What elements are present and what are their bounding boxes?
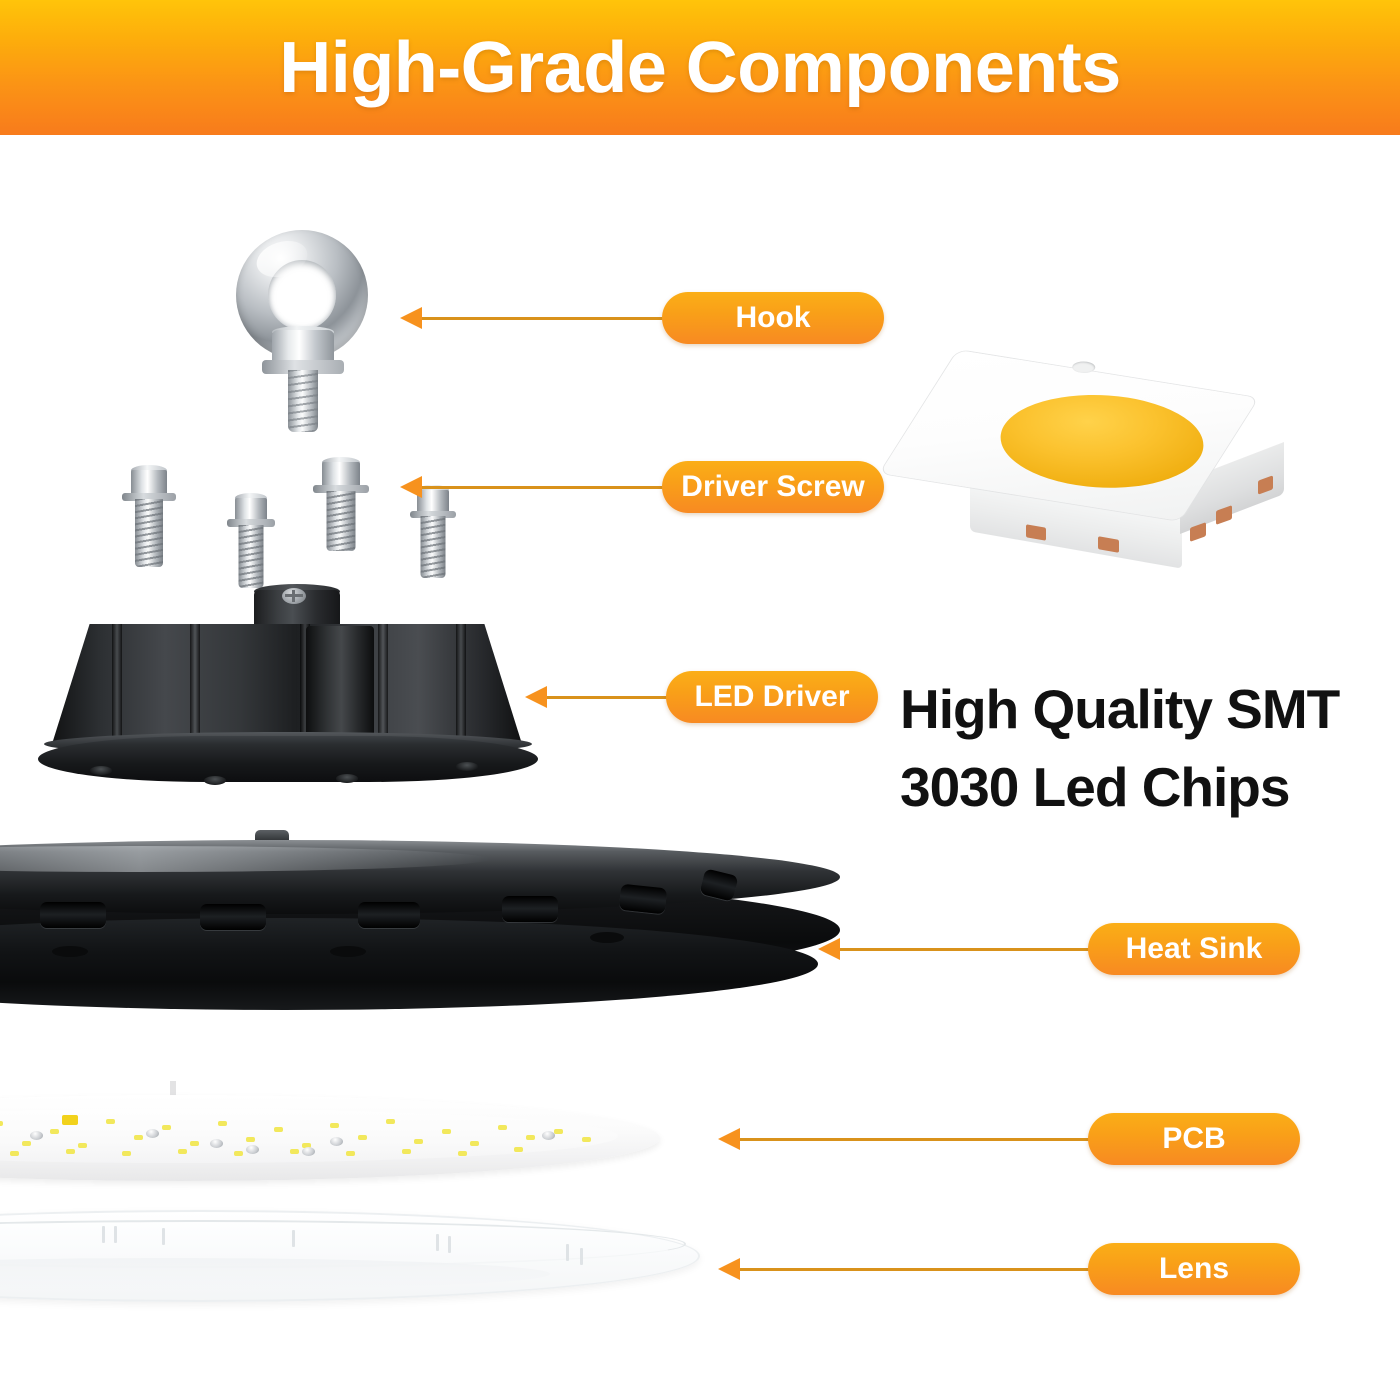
lens-image xyxy=(0,1210,700,1302)
arrow-icon-heat-sink xyxy=(818,938,840,960)
arrow-icon-led-driver xyxy=(525,686,547,708)
heat-sink-image xyxy=(0,840,840,1020)
heat-sink-vent xyxy=(40,902,106,928)
leader-line-driver-screw xyxy=(420,486,665,489)
led-chip-image xyxy=(958,350,1288,580)
driver-rib xyxy=(190,624,200,742)
callout-label-hook[interactable]: Hook xyxy=(662,292,884,344)
callout-text: Driver Screw xyxy=(681,470,864,504)
driver-mount-hole xyxy=(336,774,358,783)
page-title: High-Grade Components xyxy=(279,27,1121,109)
headline-line-2: 3030 Led Chips xyxy=(900,748,1340,826)
arrow-icon-driver-screw xyxy=(400,476,422,498)
arrow-icon-pcb xyxy=(718,1128,740,1150)
screw-thread xyxy=(239,525,264,588)
hook-part-image xyxy=(222,230,382,430)
driver-center-column xyxy=(306,626,374,742)
driver-rib xyxy=(112,624,122,742)
pcb-image xyxy=(0,1095,660,1181)
callout-label-lens[interactable]: Lens xyxy=(1088,1243,1300,1295)
driver-screw-1 xyxy=(122,465,176,570)
smt-chips-headline: High Quality SMT 3030 Led Chips xyxy=(900,670,1340,826)
screw-thread xyxy=(421,516,446,578)
headline-line-1: High Quality SMT xyxy=(900,670,1340,748)
heat-sink-vent xyxy=(619,884,667,915)
driver-screw-4 xyxy=(410,485,456,581)
driver-mount-hole xyxy=(90,766,112,775)
leader-line-heat-sink xyxy=(840,948,1095,951)
callout-text: Heat Sink xyxy=(1126,932,1263,966)
callout-label-led-driver[interactable]: LED Driver xyxy=(666,671,878,723)
leader-line-hook xyxy=(420,317,670,320)
heat-sink-vent-hole xyxy=(590,932,624,943)
exploded-diagram: Hook Driver Screw LED Driver Heat Sink P… xyxy=(0,135,1400,1400)
heat-sink-vent xyxy=(502,896,558,922)
led-driver-image xyxy=(38,590,538,800)
callout-text: LED Driver xyxy=(694,680,849,714)
callout-text: Hook xyxy=(736,301,811,335)
header-banner: High-Grade Components xyxy=(0,0,1400,135)
driver-top-screw xyxy=(282,588,306,604)
driver-screw-2 xyxy=(227,493,275,591)
arrow-icon-lens xyxy=(718,1258,740,1280)
heat-sink-vent xyxy=(200,904,266,930)
arrow-icon-hook xyxy=(400,307,422,329)
leader-line-pcb xyxy=(740,1138,1095,1141)
callout-label-heat-sink[interactable]: Heat Sink xyxy=(1088,923,1300,975)
screw-thread xyxy=(135,499,163,567)
heat-sink-vent-hole xyxy=(52,946,88,957)
driver-mount-hole xyxy=(456,762,478,771)
driver-rib xyxy=(378,624,388,742)
heat-sink-vent-hole xyxy=(330,946,366,957)
heat-sink-vent xyxy=(358,902,420,928)
screw-thread xyxy=(327,491,356,551)
driver-rib xyxy=(456,624,466,742)
driver-screw-3 xyxy=(313,457,369,555)
leader-line-lens xyxy=(740,1268,1095,1271)
callout-label-driver-screw[interactable]: Driver Screw xyxy=(662,461,884,513)
leader-line-led-driver xyxy=(545,696,670,699)
hook-threaded-shank xyxy=(288,370,318,432)
driver-body xyxy=(52,624,522,744)
driver-base-flange xyxy=(38,736,538,782)
callout-text: PCB xyxy=(1162,1122,1225,1156)
driver-mount-hole xyxy=(204,776,226,785)
callout-text: Lens xyxy=(1159,1252,1229,1286)
callout-label-pcb[interactable]: PCB xyxy=(1088,1113,1300,1165)
